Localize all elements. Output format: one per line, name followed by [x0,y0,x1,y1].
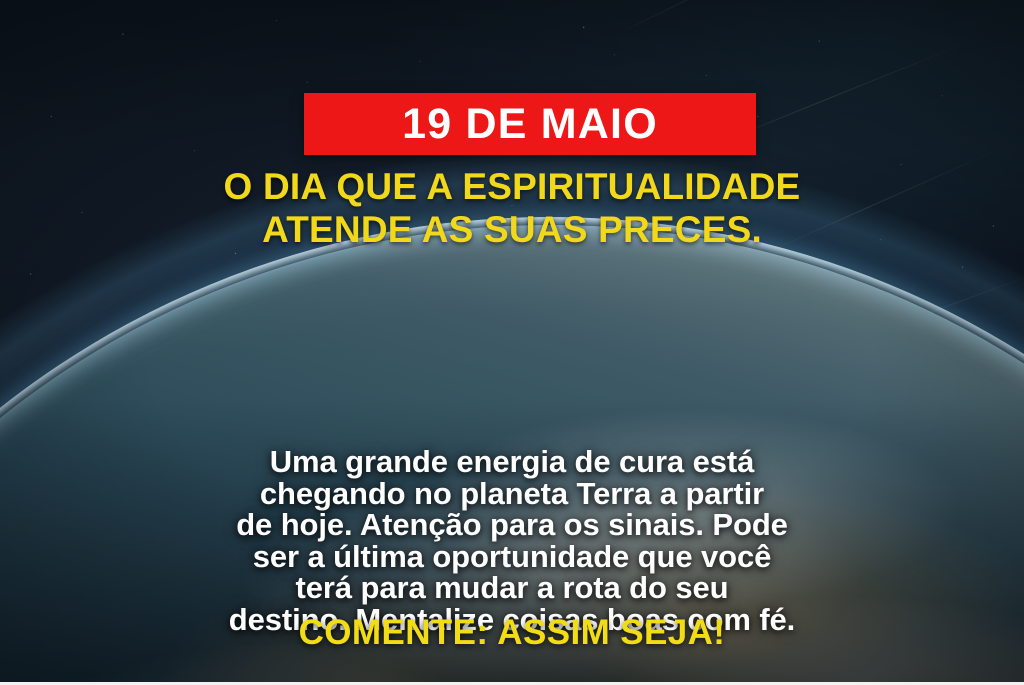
body-line-4: ser a última oportunidade que você [52,541,972,573]
headline: O DIA QUE A ESPIRITUALIDADE ATENDE AS SU… [0,166,1024,252]
poster-canvas: 19 DE MAIO O DIA QUE A ESPIRITUALIDADE A… [0,0,1024,685]
date-banner-text: 19 DE MAIO [402,103,658,146]
body-line-3: de hoje. Atenção para os sinais. Pode [52,509,972,541]
body-line-2: chegando no planeta Terra a partir [52,478,972,510]
date-banner: 19 DE MAIO [304,93,756,155]
body-line-5: terá para mudar a rota do seu [52,572,972,604]
headline-line-2: ATENDE AS SUAS PRECES. [40,209,984,252]
poster-content: 19 DE MAIO O DIA QUE A ESPIRITUALIDADE A… [0,0,1024,685]
body-copy: Uma grande energia de cura está chegando… [0,446,1024,636]
call-to-action-text: COMENTE: ASSIM SEJA! [0,615,1024,650]
headline-line-1: O DIA QUE A ESPIRITUALIDADE [40,166,984,209]
body-line-1: Uma grande energia de cura está [52,446,972,478]
